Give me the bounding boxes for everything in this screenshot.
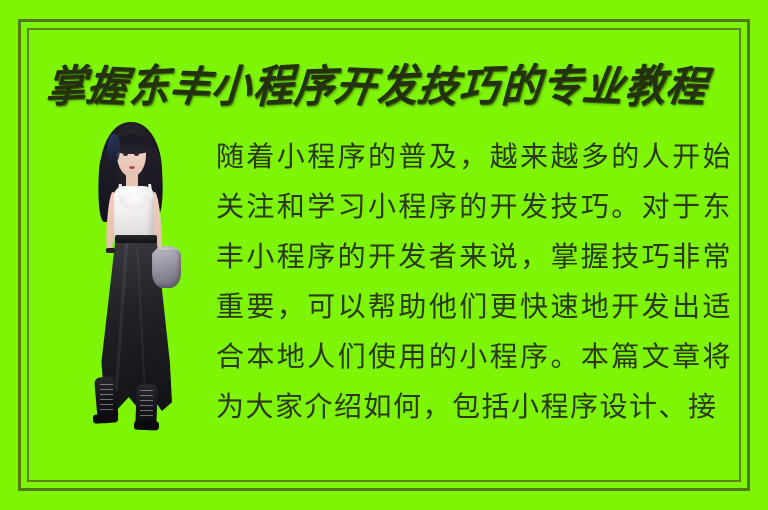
skirt-waistband [115,235,157,243]
lips [129,166,135,169]
boot-sole-left [93,413,119,424]
title-char: 握 [84,65,130,108]
wrist-watch [106,248,115,253]
title-char: 专 [540,65,583,110]
title-char: 巧 [458,65,501,110]
title-char: 程 [663,65,709,108]
title-char: 业 [580,65,626,108]
title-char: 小 [210,65,253,110]
title-char: 东 [128,64,170,110]
poster-canvas: 掌 握 东 丰 小 程 序 开 发 技 巧 的 专 业 教 程 [0,0,768,510]
title-char: 程 [252,64,294,110]
shoulder-bag [152,250,181,288]
woman-illustration [74,122,192,427]
page-title: 掌 握 东 丰 小 程 序 开 发 技 巧 的 专 业 教 程 [43,57,709,117]
title-char: 发 [376,64,418,110]
title-char: 掌 [44,65,87,110]
boot-laces-right [140,390,153,418]
title-char: 教 [624,64,666,110]
eye-right [134,153,139,156]
boot-laces-left [100,384,113,412]
article-body: 随着小程序的普及，越来越多的人开始关注和学习小程序的开发技巧。对于东丰小程序的开… [216,132,732,432]
eye-left [123,153,128,156]
top-ruffle [119,192,149,209]
boot-sole-right [134,421,159,431]
title-char: 开 [332,65,378,108]
title-char: 的 [500,64,542,110]
title-char: 技 [415,65,461,108]
title-char: 序 [292,65,335,110]
hair-blue-streak [107,134,120,164]
title-char: 丰 [167,65,213,108]
